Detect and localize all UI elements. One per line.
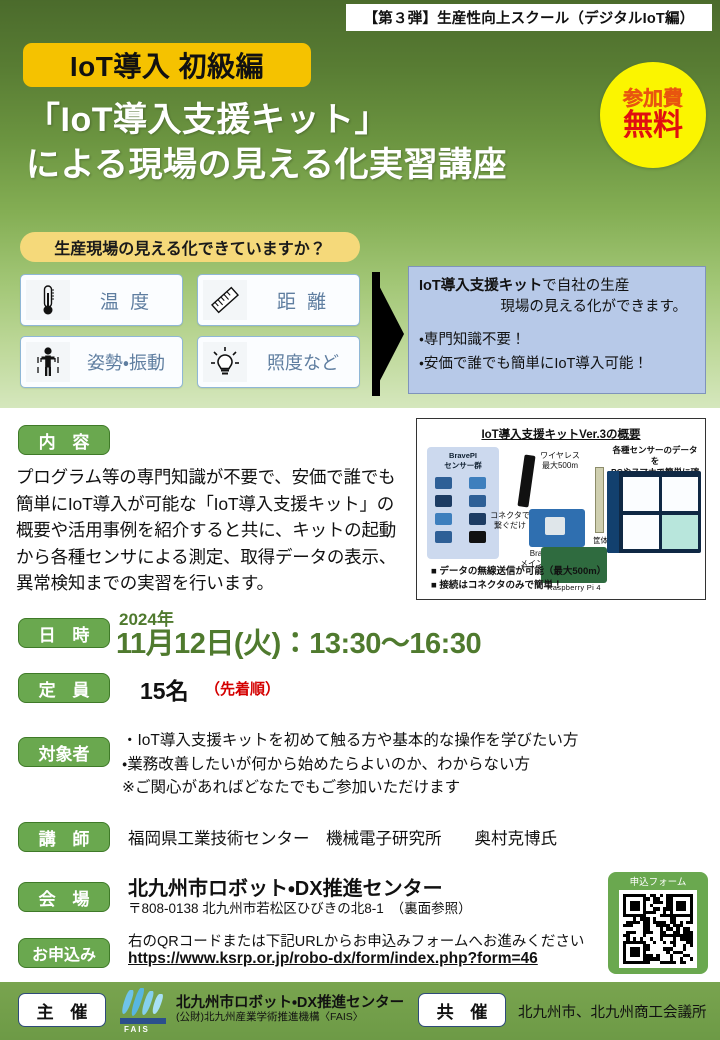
capacity-note: （先着順）: [205, 678, 280, 699]
sensor-label-temperature: 温 度: [70, 287, 182, 314]
label-audience: 対象者: [18, 737, 110, 767]
page-title: 「IoT導入支援キット」 による現場の見える化実習講座: [26, 98, 606, 188]
level-pill: IoT導入 初級編: [23, 43, 311, 87]
content-body: プログラム等の専門知識が不要で、安価で誰でも簡単にIoT導入が可能な「IoT導入…: [16, 464, 408, 597]
sensor-item-illuminance: 照度など: [197, 336, 360, 388]
audience-line2: ・業務改善したいが何から始めたらよいのか、わからない方: [122, 753, 682, 777]
question-pill: 生産現場の見える化できていますか？: [20, 232, 360, 262]
benefit-box: IoT導入支援キットで自社の生産 現場の見える化ができます。 ・専門知識不要！ …: [408, 266, 706, 394]
kit-dashboard-screenshot: [607, 471, 701, 553]
venue-address: 〒808-0138 北九州市若松区ひびきの北8-1 （裏面参照）: [128, 897, 472, 917]
page-title-line1: 「IoT導入支援キット」: [26, 98, 606, 143]
sensor-item-temperature: 温 度: [20, 274, 183, 326]
fee-badge: 参加費 無料: [600, 62, 706, 168]
kit-connector-label: コネクタで繋ぐだけ: [485, 511, 535, 531]
kit-sensor-group-label: BravePIセンサー群: [427, 447, 499, 471]
kit-figure-title: IoT導入支援キットVer.3の概要: [417, 426, 705, 442]
label-cohost-text: 共 催: [431, 998, 494, 1023]
audience-line3: ※ご関心があればどなたでもご参加いただけます: [122, 776, 682, 800]
fee-badge-line1: 参加費: [623, 89, 683, 109]
kit-wireless-module: [517, 454, 535, 507]
hero-section: 【第３弾】生産性向上スクール（デジタルIoT編） IoT導入 初級編 「IoT導…: [0, 0, 720, 408]
flyer-page: 【第３弾】生産性向上スクール（デジタルIoT編） IoT導入 初級編 「IoT導…: [0, 0, 720, 1040]
kit-footer-line2: ■ 接続はコネクタのみで簡単！: [431, 579, 691, 594]
arrow-right-icon: [372, 272, 404, 396]
label-cohost: 共 催: [418, 993, 506, 1027]
label-datetime-text: 日 時: [33, 621, 96, 646]
application-qr-card[interactable]: 申込フォーム: [608, 872, 708, 974]
benefit-line1: IoT導入支援キットで自社の生産: [419, 276, 695, 297]
datetime-value: 11月12日(火)：13:30～16:30: [116, 620, 481, 662]
benefit-line2: 現場の見える化ができます。: [419, 297, 695, 318]
application-instruction: 右のQRコードまたは下記URLからお申込みフォームへお進みください: [128, 930, 584, 951]
fee-badge-line2: 無料: [623, 111, 683, 141]
kit-antenna-label: 筐体: [593, 535, 608, 546]
kit-sensor-group: BravePIセンサー群: [427, 447, 499, 559]
sensor-label-distance: 距 離: [247, 287, 359, 314]
person-vibration-icon: [26, 342, 70, 382]
label-venue-text: 会 場: [33, 885, 96, 910]
label-capacity-text: 定 員: [33, 676, 96, 701]
label-content: 内 容: [18, 425, 110, 455]
sensor-label-posture-vibration: 姿勢・振動: [70, 349, 182, 375]
fais-logo-text: FAIS: [124, 1025, 150, 1034]
label-content-text: 内 容: [33, 428, 96, 453]
thermometer-icon: [26, 280, 70, 320]
label-datetime: 日 時: [18, 618, 110, 648]
label-venue: 会 場: [18, 882, 110, 912]
page-title-line2: による現場の見える化実習講座: [26, 143, 606, 188]
lecturer-value: 福岡県工業技術センター 機械電子研究所 奥村克博氏: [128, 825, 557, 849]
label-audience-text: 対象者: [39, 740, 90, 765]
audience-body: ・IoT導入支援キットを初めて触る方や基本的な操作を学びたい方 ・業務改善したい…: [122, 729, 682, 800]
kit-mainboard-image: [529, 509, 585, 547]
lightbulb-icon: [203, 342, 247, 382]
level-pill-label: IoT導入 初級編: [70, 45, 264, 85]
sensor-list: 温 度 距 離: [20, 274, 360, 394]
series-ribbon: 【第３弾】生産性向上スクール（デジタルIoT編）: [346, 4, 712, 31]
label-application-text: お申込み: [32, 941, 96, 965]
label-organizer: 主 催: [18, 993, 106, 1027]
benefit-line1-bold: IoT導入支援キット: [419, 278, 542, 294]
fais-logo: FAIS: [118, 988, 172, 1032]
kit-overview-figure: IoT導入支援キットVer.3の概要 BravePIセンサー群 ワイヤレス最大5…: [416, 418, 706, 600]
kit-antenna-icon: [595, 467, 604, 533]
qr-card-label: 申込フォーム: [612, 876, 704, 890]
kit-figure-footer: ■ データの無線送信が可能（最大500m） ■ 接続はコネクタのみで簡単！: [431, 565, 691, 594]
kit-footer-line1: ■ データの無線送信が可能（最大500m）: [431, 565, 691, 580]
audience-line1: ・IoT導入支援キットを初めて触る方や基本的な操作を学びたい方: [122, 729, 682, 753]
label-lecturer: 講 師: [18, 822, 110, 852]
label-lecturer-text: 講 師: [33, 825, 96, 850]
organizer-sub: (公財)北九州産業学術推進機構〈FAIS〉: [176, 1009, 363, 1024]
qr-code-grid: [623, 894, 693, 964]
sensor-label-illuminance: 照度など: [247, 349, 359, 375]
question-pill-text: 生産現場の見える化できていますか？: [54, 235, 326, 259]
application-url-link[interactable]: https://www.ksrp.or.jp/robo-dx/form/inde…: [128, 950, 538, 968]
series-ribbon-text: 【第３弾】生産性向上スクール（デジタルIoT編）: [364, 7, 695, 28]
cohost-name: 北九州市、北九州商工会議所: [518, 1001, 707, 1022]
label-application: お申込み: [18, 938, 110, 968]
benefit-bullet1: ・専門知識不要！: [419, 330, 695, 352]
qr-code-image: [619, 890, 697, 968]
benefit-bullet2: ・安価で誰でも簡単にIoT導入可能！: [419, 354, 695, 376]
label-capacity: 定 員: [18, 673, 110, 703]
kit-wireless-label: ワイヤレス最大500m: [537, 451, 583, 473]
label-organizer-text: 主 催: [31, 998, 94, 1023]
ruler-icon: [203, 280, 247, 320]
sensor-item-distance: 距 離: [197, 274, 360, 326]
benefit-line1-rest: で自社の生産: [542, 278, 629, 294]
capacity-value: 15名: [140, 672, 189, 706]
sensor-item-posture-vibration: 姿勢・振動: [20, 336, 183, 388]
